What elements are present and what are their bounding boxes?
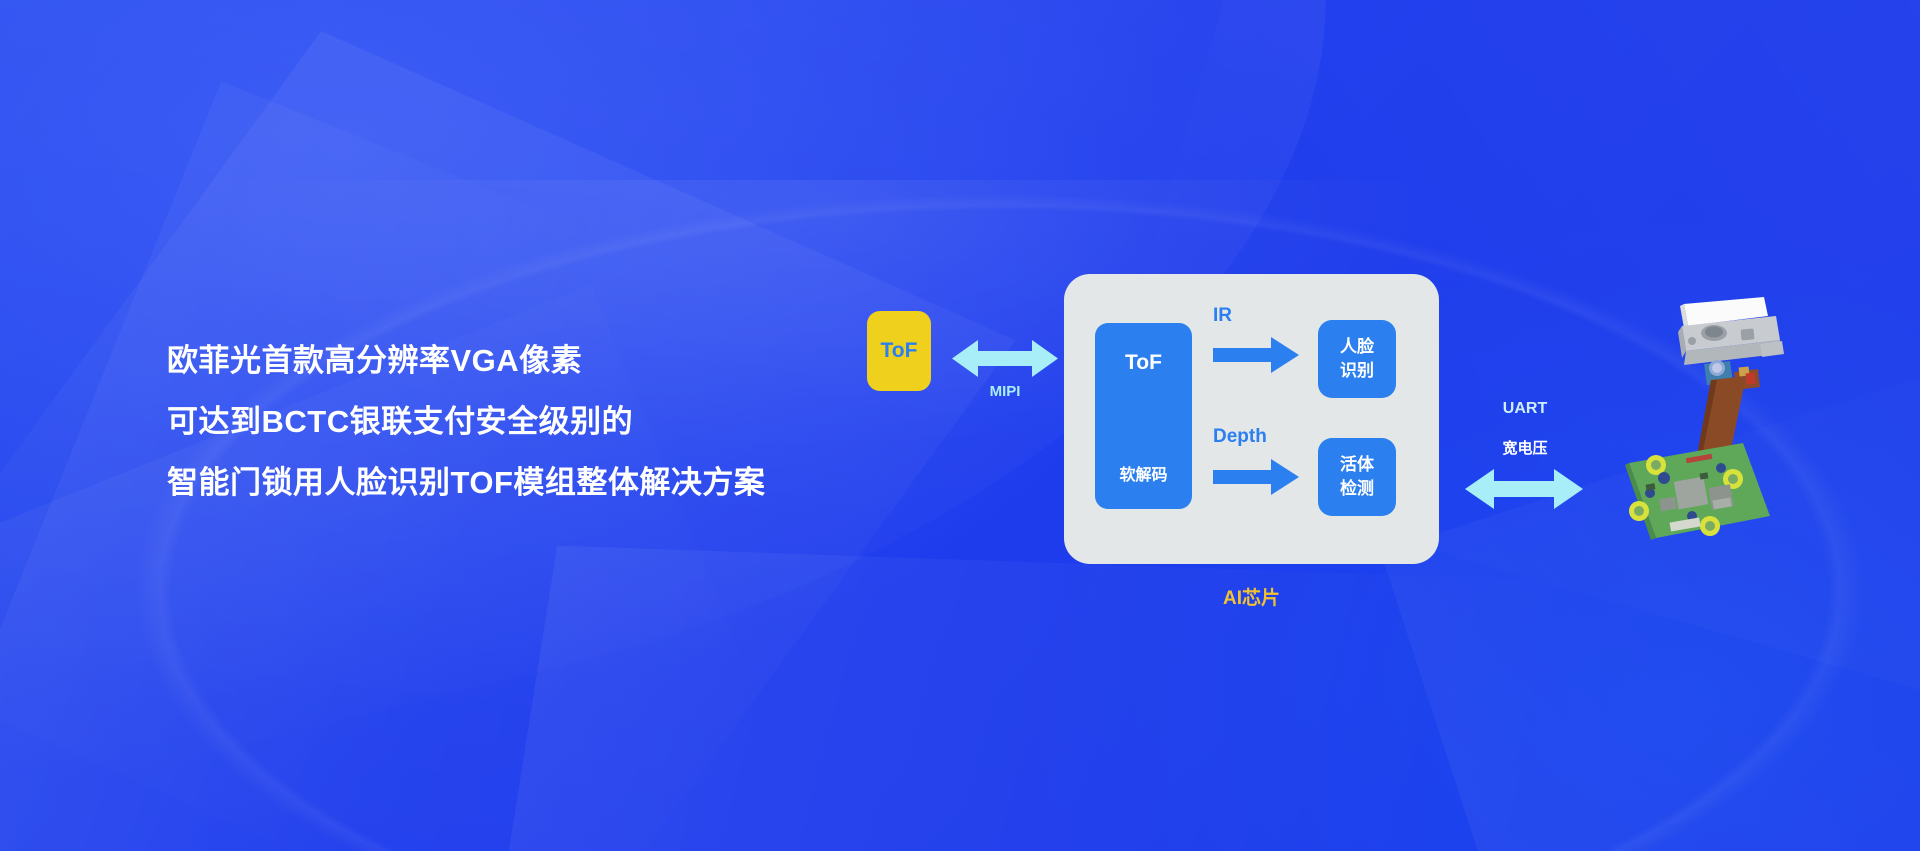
tof-sensor-label: ToF xyxy=(881,339,918,363)
tof-sensor-block: ToF xyxy=(867,311,931,391)
tof-processor-block: ToF 软解码 xyxy=(1095,323,1192,509)
liveness-detection-line-2: 检测 xyxy=(1340,479,1374,498)
tof-processor-subtitle: 软解码 xyxy=(1119,461,1167,485)
face-recognition-block: 人脸 识别 xyxy=(1318,320,1396,398)
uart-label: UART xyxy=(1450,400,1600,418)
wide-voltage-label: 宽电压 xyxy=(1450,437,1600,458)
tof-processor-title: ToF xyxy=(1125,351,1162,375)
tof-camera-module-and-pcb-image xyxy=(1600,288,1920,558)
arrow-right-icon xyxy=(1213,337,1299,373)
arrow-right-icon xyxy=(1213,459,1299,495)
banner-stage: 欧菲光首款高分辨率VGA像素 可达到BCTC银联支付安全级别的 智能门锁用人脸识… xyxy=(0,0,1920,851)
depth-flow-label: Depth xyxy=(1213,426,1267,448)
face-recognition-line-1: 人脸 xyxy=(1340,337,1374,356)
liveness-detection-line-1: 活体 xyxy=(1340,455,1374,474)
double-arrow-icon xyxy=(1465,466,1583,512)
liveness-detection-block: 活体 检测 xyxy=(1318,438,1396,516)
face-recognition-line-2: 识别 xyxy=(1340,361,1374,380)
mipi-label: MIPI xyxy=(952,383,1058,400)
double-arrow-icon xyxy=(952,337,1058,380)
ai-chip-caption: AI芯片 xyxy=(1064,583,1439,610)
ir-flow-label: IR xyxy=(1213,305,1232,327)
solution-diagram: ToF MIPI ToF 软解码 IR Depth 人脸 识别 xyxy=(0,0,1920,851)
